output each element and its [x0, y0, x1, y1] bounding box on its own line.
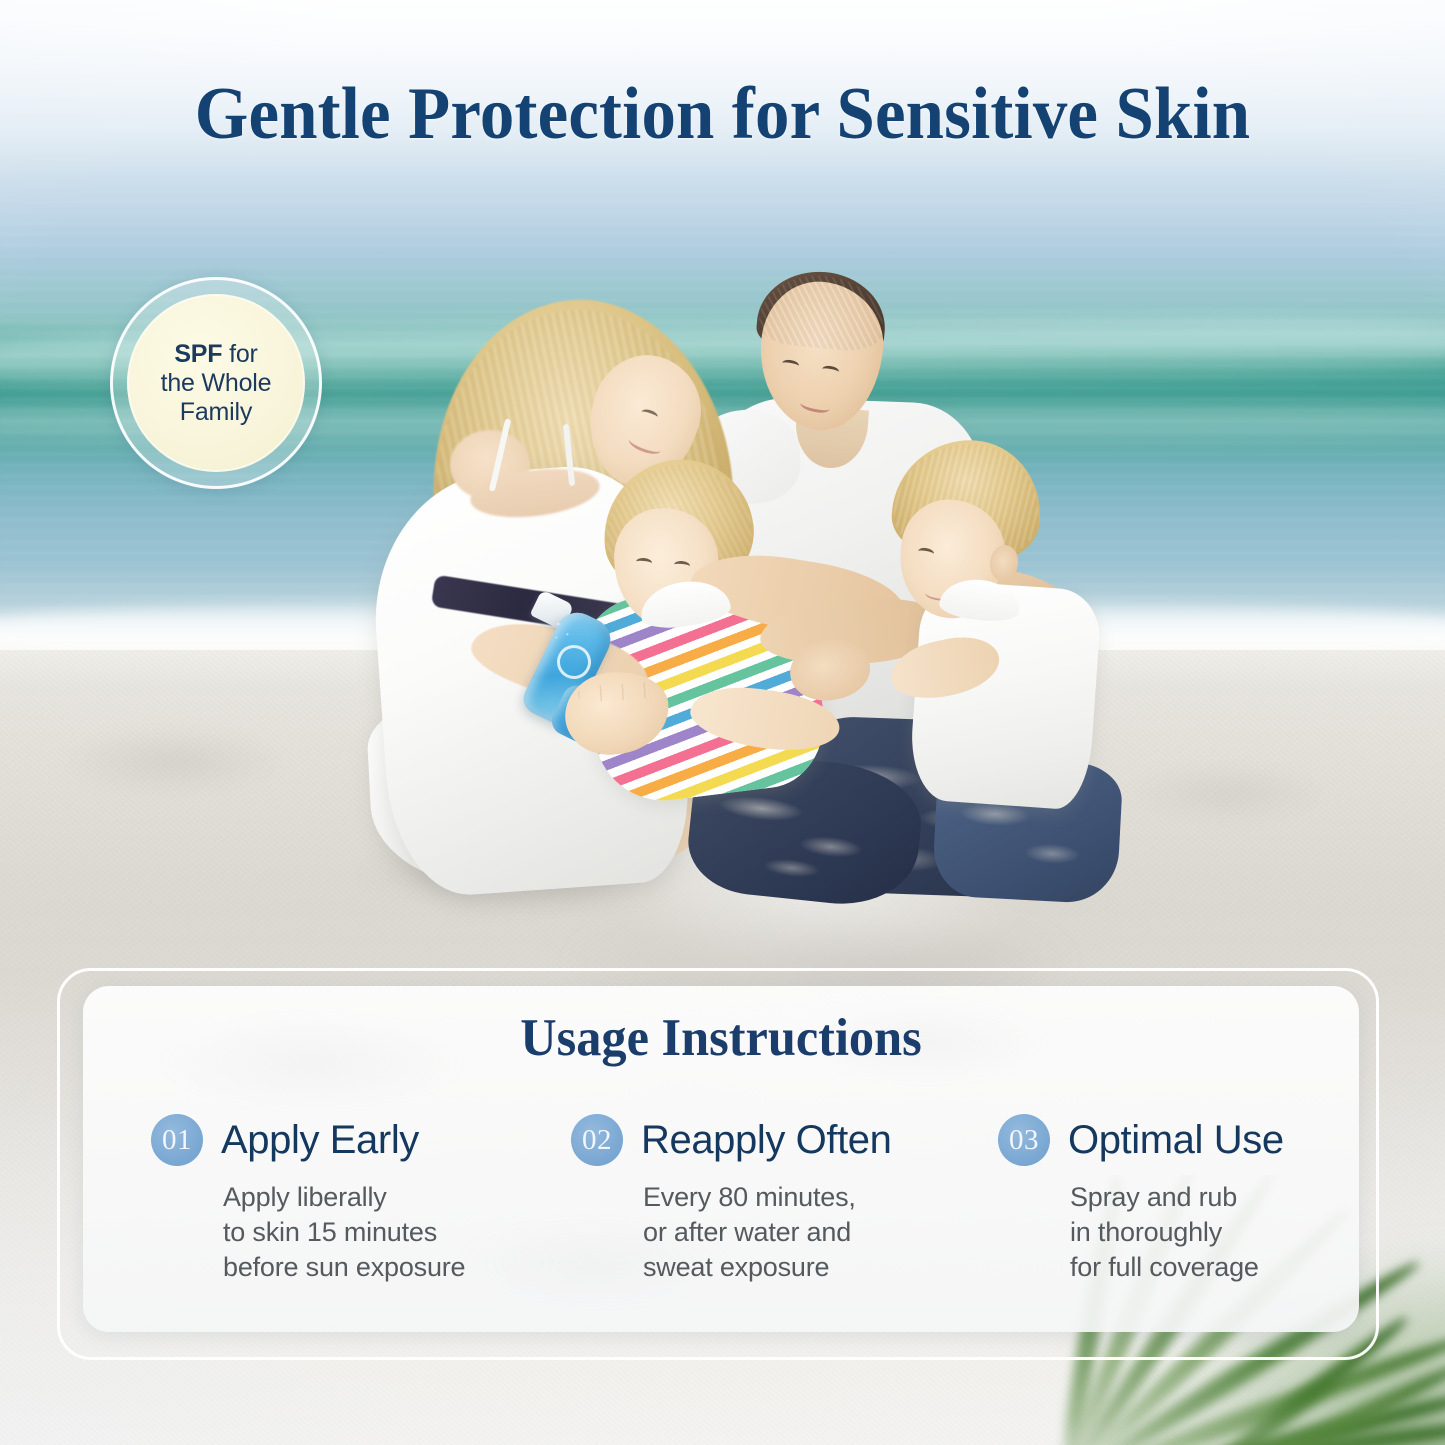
usage-step-1: 01 Apply Early Apply liberally to skin 1… — [83, 1114, 503, 1285]
usage-step-2: 02 Reapply Often Every 80 minutes, or af… — [503, 1114, 933, 1285]
usage-step-3-title: Optimal Use — [1068, 1118, 1284, 1163]
step-number-badge-2: 02 — [571, 1114, 623, 1166]
usage-step-1-title: Apply Early — [221, 1118, 419, 1163]
infographic-canvas: Gentle Protection for Sensitive Skin SPF… — [0, 0, 1445, 1445]
step-number-badge-1: 01 — [151, 1114, 203, 1166]
spf-badge: SPF for the Whole Family — [110, 277, 322, 489]
spf-badge-bold: SPF — [174, 340, 222, 368]
step-number-badge-3: 03 — [998, 1114, 1050, 1166]
usage-step-3: 03 Optimal Use Spray and rub in thorough… — [933, 1114, 1359, 1285]
father-hair-texture — [757, 271, 887, 354]
usage-step-2-title: Reapply Often — [641, 1118, 892, 1163]
usage-step-2-body: Every 80 minutes, or after water and swe… — [643, 1180, 933, 1285]
usage-step-1-head: 01 Apply Early — [151, 1114, 503, 1166]
usage-steps-row: 01 Apply Early Apply liberally to skin 1… — [83, 1114, 1359, 1285]
usage-step-3-body: Spray and rub in thoroughly for full cov… — [1070, 1180, 1359, 1285]
usage-step-2-head: 02 Reapply Often — [571, 1114, 933, 1166]
usage-panel-title: Usage Instructions — [115, 1008, 1327, 1068]
spf-badge-inner: SPF for the Whole Family — [127, 294, 305, 472]
spf-badge-text: SPF for the Whole Family — [161, 340, 272, 427]
usage-step-3-head: 03 Optimal Use — [998, 1114, 1359, 1166]
usage-step-1-body: Apply liberally to skin 15 minutes befor… — [223, 1180, 503, 1285]
usage-panel: Usage Instructions 01 Apply Early Apply … — [83, 986, 1359, 1332]
page-title: Gentle Protection for Sensitive Skin — [51, 72, 1395, 157]
